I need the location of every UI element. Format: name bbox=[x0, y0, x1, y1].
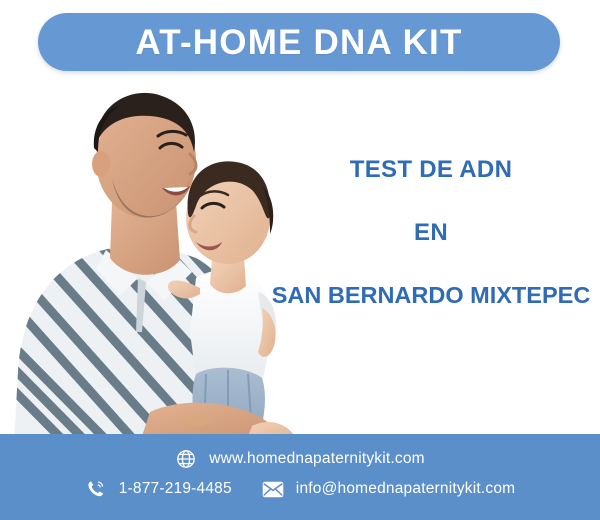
footer-website-text: www.homednapaternitykit.com bbox=[209, 451, 425, 467]
contact-footer: www.homednapaternitykit.com 1-877-219-44… bbox=[0, 434, 600, 520]
footer-email-item[interactable]: info@homednapaternitykit.com bbox=[262, 478, 516, 500]
footer-email-text: info@homednapaternitykit.com bbox=[296, 481, 516, 497]
phone-icon bbox=[85, 478, 107, 500]
footer-phone-item[interactable]: 1-877-219-4485 bbox=[85, 478, 232, 500]
man-ear bbox=[92, 151, 110, 177]
footer-website-row: www.homednapaternitykit.com bbox=[0, 448, 600, 470]
poster-canvas: AT-HOME DNA KIT bbox=[0, 0, 600, 520]
footer-website-item[interactable]: www.homednapaternitykit.com bbox=[175, 448, 425, 470]
page-title: AT-HOME DNA KIT bbox=[135, 25, 462, 60]
headline-block: TEST DE ADN EN SAN BERNARDO MIXTEPEC bbox=[262, 158, 600, 308]
globe-icon bbox=[175, 448, 197, 470]
footer-phone-text: 1-877-219-4485 bbox=[119, 481, 232, 497]
envelope-icon bbox=[262, 478, 284, 500]
headline-line-2: EN bbox=[262, 221, 600, 245]
headline-line-3: SAN BERNARDO MIXTEPEC bbox=[262, 284, 600, 308]
footer-contact-row: 1-877-219-4485 info@homednapaternitykit.… bbox=[0, 478, 600, 500]
header-banner-pill: AT-HOME DNA KIT bbox=[38, 13, 560, 71]
headline-line-1: TEST DE ADN bbox=[262, 158, 600, 182]
